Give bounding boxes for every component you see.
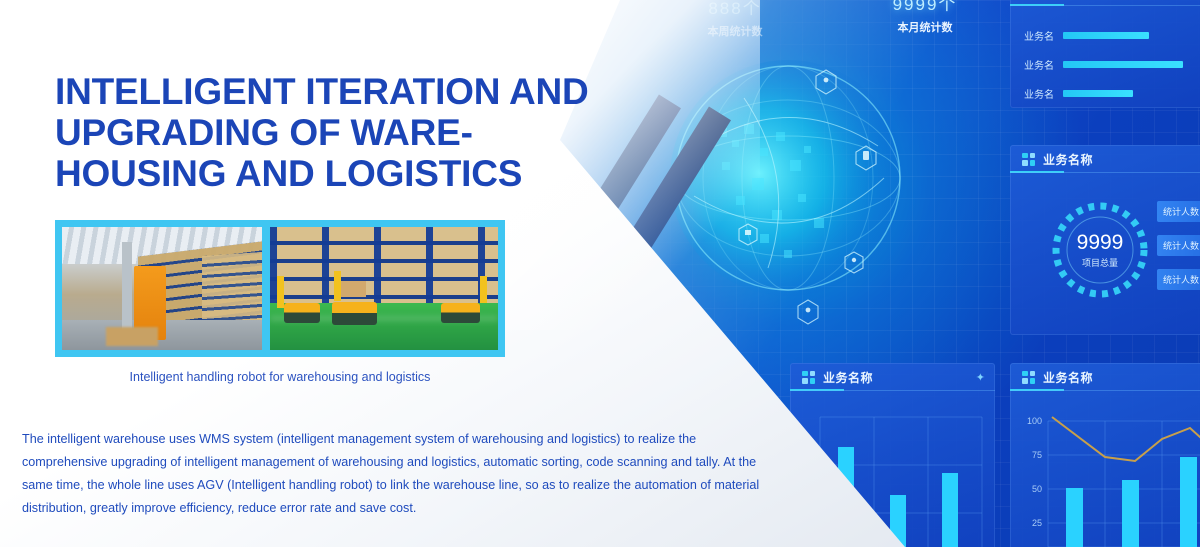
- sparkle-icon: ✦: [976, 371, 985, 384]
- row-bar: [1063, 90, 1133, 97]
- ytick-50: 50: [1032, 484, 1042, 494]
- panel-project-total[interactable]: 业务名称 9999 项目总量 统计人数: [1010, 145, 1200, 335]
- photo2-agv-robot: [332, 302, 378, 325]
- panel-header: 业务名称: [1010, 145, 1200, 173]
- photo2-agv-robot: [441, 303, 480, 323]
- photo2-guard-rail: [277, 276, 284, 308]
- donut-gauge: 9999 项目总量: [1048, 198, 1152, 302]
- donut-value-label: 项目总量: [1082, 256, 1118, 269]
- stat-monthly-label: 本月统计数: [840, 19, 1010, 35]
- list-item[interactable]: 业务名: [1024, 57, 1200, 72]
- photo2-carton: [341, 281, 366, 297]
- photo1-pallet-load: [106, 327, 158, 347]
- photo2-guard-rail: [480, 276, 487, 303]
- photo-gallery-frame: [55, 220, 505, 357]
- ytick-100: 100: [1027, 416, 1042, 426]
- donut-value-group: 9999 项目总量: [1048, 198, 1152, 302]
- banner-stage: 888个 本周统计数 9999个 本月统计数 业务排行 业务名 业务名: [0, 0, 1200, 547]
- photo2-pallet-racking: [270, 227, 498, 303]
- photo-warehouse-forklift: [62, 227, 262, 350]
- panel-header: 业务名称: [1010, 363, 1200, 391]
- photo-caption: Intelligent handling robot for warehousi…: [55, 370, 505, 384]
- stat-monthly-value: 9999个: [840, 0, 1010, 17]
- stat-chip[interactable]: 统计人数: [1157, 269, 1200, 290]
- panel-chart-right[interactable]: 业务名称 100 75 50 25: [1010, 363, 1200, 547]
- panel-title: 业务名称: [823, 369, 873, 386]
- page-title: INTELLIGENT ITERATION AND UPGRADING OF W…: [55, 71, 595, 194]
- photo1-racking-far: [202, 252, 262, 328]
- body-paragraph: The intelligent warehouse uses WMS syste…: [22, 428, 762, 521]
- grid-squares-icon: [1022, 371, 1035, 384]
- row-label: 业务名: [1024, 57, 1054, 72]
- photo2-guard-rail: [334, 271, 341, 301]
- stat-chip-group: 统计人数 统计人数 统计人数: [1157, 201, 1200, 290]
- ytick-75: 75: [1032, 450, 1042, 460]
- row-label: 业务名: [1024, 86, 1054, 101]
- grid-squares-icon: [802, 371, 815, 384]
- stat-chip[interactable]: 统计人数: [1157, 235, 1200, 256]
- photo1-mast: [122, 242, 132, 338]
- grid-squares-icon: [1022, 153, 1035, 166]
- panel-body: 9999 项目总量 统计人数 统计人数 统计人数: [1010, 173, 1200, 333]
- photo-agv-robots: [270, 227, 498, 350]
- list-item[interactable]: 业务名: [1024, 86, 1200, 101]
- stat-chip[interactable]: 统计人数: [1157, 201, 1200, 222]
- panel-title: 业务名称: [1043, 151, 1093, 168]
- photo2-agv-robot: [284, 303, 320, 323]
- panel-header: 业务名称 ✦: [790, 363, 995, 391]
- panel-header: 业务排行: [1010, 0, 1200, 6]
- ytick-25: 25: [1032, 518, 1042, 528]
- panel-business-ranking[interactable]: 业务排行 业务名 业务名 业务名: [1010, 0, 1200, 108]
- row-bar: [1063, 32, 1149, 39]
- stat-monthly: 9999个 本月统计数: [840, 0, 1010, 35]
- donut-value: 9999: [1077, 232, 1124, 253]
- trend-line: [1052, 417, 1200, 461]
- ranking-row-list: 业务名 业务名 业务名: [1010, 6, 1200, 101]
- row-label: 业务名: [1024, 28, 1054, 43]
- list-item[interactable]: 业务名: [1024, 28, 1200, 43]
- row-bar: [1063, 61, 1183, 68]
- combo-chart-right: 100 75 50 25: [1010, 395, 1200, 547]
- content-column: INTELLIGENT ITERATION AND UPGRADING OF W…: [0, 0, 800, 547]
- panel-title: 业务排行: [1043, 0, 1093, 1]
- panel-title: 业务名称: [1043, 369, 1093, 386]
